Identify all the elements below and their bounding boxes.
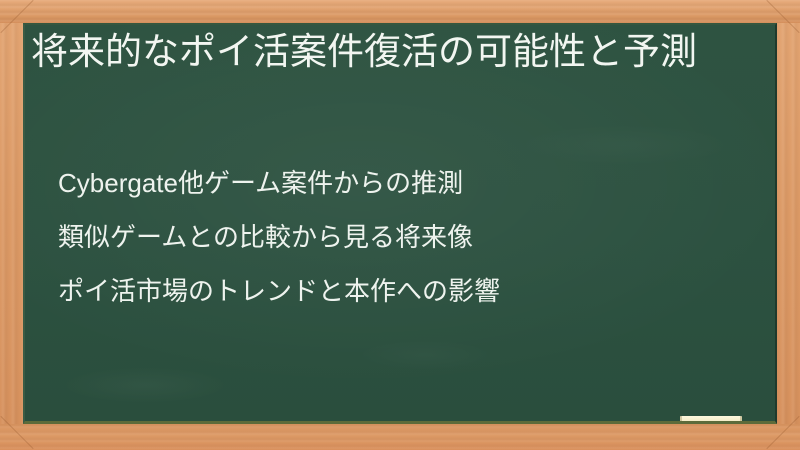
slide-title: 将来的なポイ活案件復活の可能性と予測 (31, 27, 761, 76)
chalkboard-surface: 将来的なポイ活案件復活の可能性と予測 Cybergate他ゲーム案件からの推測 … (23, 23, 777, 424)
list-item: ポイ活市場のトレンドと本作への影響 (58, 264, 748, 318)
wood-frame-top-rail (0, 0, 800, 23)
chalkboard-slide: 将来的なポイ活案件復活の可能性と予測 Cybergate他ゲーム案件からの推測 … (0, 0, 800, 450)
slide-bullet-list: Cybergate他ゲーム案件からの推測 類似ゲームとの比較から見る将来像 ポイ… (58, 156, 748, 318)
list-item: Cybergate他ゲーム案件からの推測 (58, 156, 748, 210)
chalk-stick-icon (680, 416, 742, 424)
list-item: 類似ゲームとの比較から見る将来像 (58, 210, 748, 264)
wood-frame-bottom-rail (0, 424, 800, 450)
